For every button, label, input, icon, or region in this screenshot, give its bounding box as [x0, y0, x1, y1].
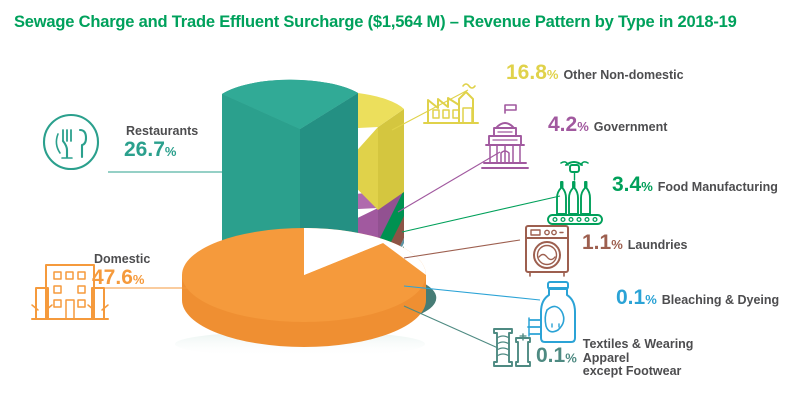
- connector-government: [398, 152, 500, 212]
- value-other-non-domestic: 16.8: [506, 62, 547, 83]
- label-government: Government: [594, 120, 668, 134]
- connector-laundries: [404, 240, 520, 258]
- value-restaurants: 26.7: [124, 139, 165, 160]
- percent-sign-other-non-domestic: %: [547, 67, 559, 82]
- thread-spool-icon: [494, 329, 530, 366]
- label-bleaching-dyeing: Bleaching & Dyeing: [662, 293, 779, 307]
- percent-sign-domestic: %: [133, 272, 145, 287]
- infographic-root: Sewage Charge and Trade Effluent Surchar…: [0, 0, 800, 405]
- detergent-bottle-icon: [528, 282, 575, 342]
- callout-government[interactable]: 4.2%Government: [548, 114, 667, 136]
- callout-other-non-domestic[interactable]: 16.8%Other Non-domestic: [506, 62, 684, 84]
- callout-bleaching-dyeing[interactable]: 0.1%Bleaching & Dyeing: [616, 287, 779, 309]
- percent-sign-bleaching-dyeing: %: [645, 292, 657, 307]
- percent-sign-textiles: %: [565, 350, 577, 365]
- label-food-manufacturing: Food Manufacturing: [658, 180, 778, 194]
- label-laundries: Laundries: [628, 238, 688, 252]
- percent-sign-food-manufacturing: %: [641, 179, 653, 194]
- callout-domestic[interactable]: Domestic 47.6%: [92, 252, 150, 289]
- callout-textiles[interactable]: 0.1%Textiles & Wearing Apparelexcept Foo…: [536, 338, 743, 379]
- callout-restaurants[interactable]: Restaurants 26.7%: [124, 124, 198, 161]
- bottling-line-icon: [548, 162, 602, 224]
- washing-machine-icon: [526, 226, 568, 276]
- percent-sign-restaurants: %: [165, 144, 177, 159]
- value-domestic: 47.6: [92, 267, 133, 288]
- callout-laundries[interactable]: 1.1%Laundries: [582, 232, 688, 254]
- label-textiles-line2: except Footwear: [583, 364, 682, 378]
- label-domestic: Domestic: [94, 252, 150, 266]
- label-textiles-line1: Textiles & Wearing Apparel: [583, 337, 694, 365]
- value-textiles: 0.1: [536, 345, 565, 366]
- percent-sign-laundries: %: [611, 237, 623, 252]
- value-bleaching-dyeing: 0.1: [616, 287, 645, 308]
- slice-domestic[interactable]: [182, 228, 426, 347]
- label-restaurants: Restaurants: [126, 124, 198, 138]
- cutlery-icon: [44, 115, 98, 169]
- percent-sign-government: %: [577, 119, 589, 134]
- factory-icon: [424, 84, 478, 123]
- value-government: 4.2: [548, 114, 577, 135]
- label-other-non-domestic: Other Non-domestic: [563, 68, 683, 82]
- callout-food-manufacturing[interactable]: 3.4%Food Manufacturing: [612, 174, 778, 196]
- label-textiles: Textiles & Wearing Apparelexcept Footwea…: [583, 338, 743, 379]
- value-laundries: 1.1: [582, 232, 611, 253]
- value-food-manufacturing: 3.4: [612, 174, 641, 195]
